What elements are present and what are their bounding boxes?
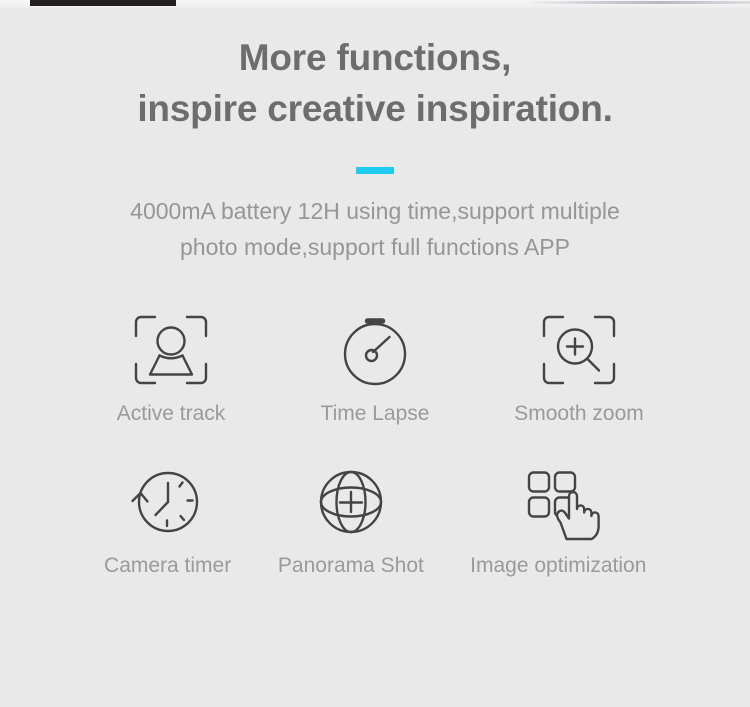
promo-section: More functions, inspire creative inspira… — [0, 8, 750, 707]
dark-bleed-bar — [30, 0, 176, 6]
page-title-line-1: More functions, — [0, 32, 750, 83]
feature-label: Panorama Shot — [259, 553, 442, 579]
grey-bleed-bar — [530, 1, 750, 4]
feature-label: Image optimization — [443, 553, 674, 579]
feature-row-1: Active track Time Lapse — [76, 307, 674, 427]
feature-label: Smooth zoom — [484, 401, 674, 427]
feature-time-lapse[interactable]: Time Lapse — [280, 307, 470, 427]
person-in-frame-icon — [76, 307, 266, 393]
feature-active-track[interactable]: Active track — [76, 307, 266, 427]
grid-tap-hand-icon — [443, 459, 674, 545]
top-bleed-strip — [0, 0, 750, 8]
feature-label: Time Lapse — [280, 401, 470, 427]
feature-label: Active track — [76, 401, 266, 427]
clock-countdown-icon — [76, 459, 259, 545]
feature-panorama-shot[interactable]: Panorama Shot — [259, 459, 442, 579]
feature-label: Camera timer — [76, 553, 259, 579]
page-subtitle: 4000mA battery 12H using time,support mu… — [0, 169, 750, 265]
globe-sphere-icon — [259, 459, 442, 545]
stopwatch-icon — [280, 307, 470, 393]
magnifier-plus-in-frame-icon — [484, 307, 674, 393]
feature-camera-timer[interactable]: Camera timer — [76, 459, 259, 579]
page-title-line-2: inspire creative inspiration. — [0, 83, 750, 134]
feature-smooth-zoom[interactable]: Smooth zoom — [484, 307, 674, 427]
page-subtitle-line-2: photo mode,support full functions APP — [0, 229, 750, 265]
page-title: More functions, inspire creative inspira… — [0, 8, 750, 134]
feature-grid: Active track Time Lapse — [0, 307, 750, 579]
accent-divider — [356, 167, 394, 174]
feature-image-optimization[interactable]: Image optimization — [443, 459, 674, 579]
feature-row-2: Camera timer Panorama Shot — [76, 459, 674, 579]
accent-divider-wrap — [0, 161, 750, 169]
page-subtitle-line-1: 4000mA battery 12H using time,support mu… — [0, 193, 750, 229]
